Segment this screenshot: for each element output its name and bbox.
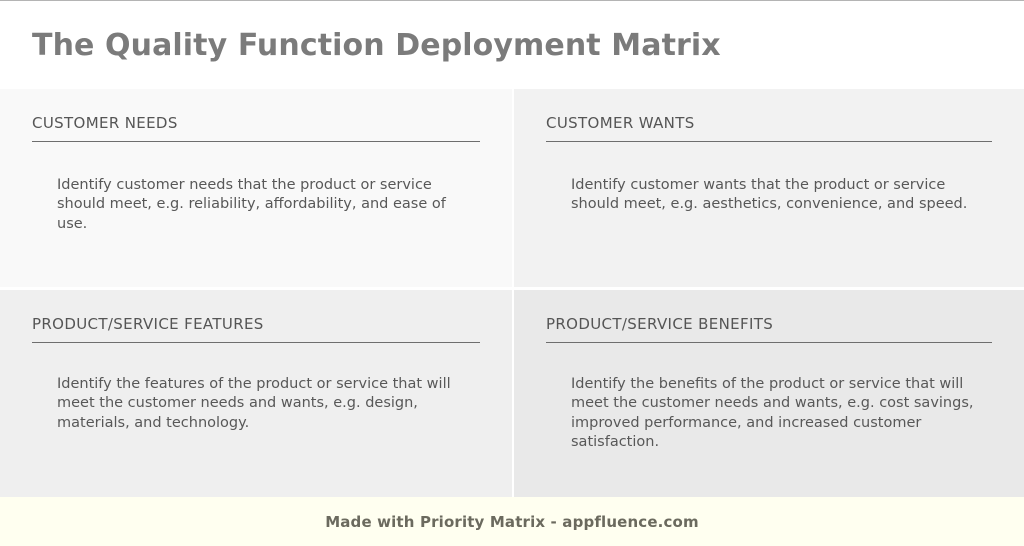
quadrant-customer-wants[interactable]: CUSTOMER WANTS Identify customer wants t… [512, 89, 1024, 287]
page-title: The Quality Function Deployment Matrix [32, 29, 721, 62]
quadrant-body-product-service-benefits: Identify the benefits of the product or … [546, 343, 992, 453]
quadrant-title-product-service-benefits: PRODUCT/SERVICE BENEFITS [546, 316, 992, 343]
footer-attribution[interactable]: Made with Priority Matrix - appfluence.c… [325, 513, 699, 531]
quadrant-body-customer-needs: Identify customer needs that the product… [32, 142, 480, 235]
quadrant-title-customer-needs: CUSTOMER NEEDS [32, 115, 480, 142]
matrix-page: The Quality Function Deployment Matrix C… [0, 0, 1024, 546]
quadrant-matrix: CUSTOMER NEEDS Identify customer needs t… [0, 89, 1024, 497]
quadrant-customer-needs[interactable]: CUSTOMER NEEDS Identify customer needs t… [0, 89, 512, 287]
quadrant-product-service-benefits[interactable]: PRODUCT/SERVICE BENEFITS Identify the be… [512, 287, 1024, 497]
quadrant-product-service-features[interactable]: PRODUCT/SERVICE FEATURES Identify the fe… [0, 287, 512, 497]
quadrant-title-product-service-features: PRODUCT/SERVICE FEATURES [32, 316, 480, 343]
page-header: The Quality Function Deployment Matrix [0, 1, 1024, 89]
quadrant-title-customer-wants: CUSTOMER WANTS [546, 115, 992, 142]
quadrant-body-product-service-features: Identify the features of the product or … [32, 343, 480, 434]
quadrant-body-customer-wants: Identify customer wants that the product… [546, 142, 992, 215]
page-footer: Made with Priority Matrix - appfluence.c… [0, 497, 1024, 546]
